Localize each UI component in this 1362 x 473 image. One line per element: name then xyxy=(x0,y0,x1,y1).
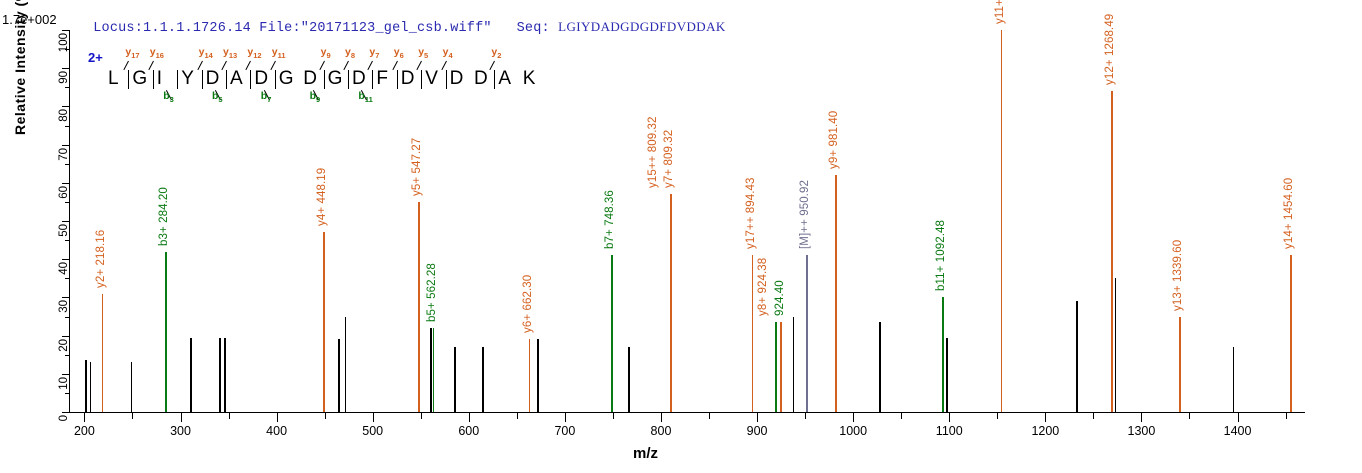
sequence-residue: V xyxy=(425,68,438,90)
y-tick-minor xyxy=(65,126,69,127)
sequence-residue: K xyxy=(523,68,536,90)
y-tick-minor xyxy=(65,393,69,394)
sequence-residue: D xyxy=(352,68,366,90)
x-tick-label: 1200 xyxy=(1031,424,1059,438)
x-tick xyxy=(1045,413,1046,422)
peak-label: y8+ 924.38 xyxy=(757,258,769,316)
y-ion-ladder-label: y14 xyxy=(199,46,213,60)
x-tick-minor xyxy=(1093,413,1094,419)
ladder-slash xyxy=(221,61,227,70)
x-tick xyxy=(661,413,662,422)
sequence-residue: G xyxy=(328,68,343,90)
y-tick-label: 100 xyxy=(58,33,70,91)
ladder-divider xyxy=(153,70,154,89)
x-tick-label: 1400 xyxy=(1224,424,1252,438)
peak-label: y7+ 809.32 xyxy=(663,130,675,188)
y-tick-minor xyxy=(65,164,69,165)
ladder-slash xyxy=(490,61,496,70)
y-axis-title: Relative Intensity (%) xyxy=(12,115,28,135)
y-ion-ladder-label: y4 xyxy=(443,46,453,60)
b-ion-ladder-label: b3 xyxy=(163,90,174,104)
x-tick-label: 600 xyxy=(458,424,479,438)
x-tick-minor xyxy=(805,413,806,419)
x-tick xyxy=(853,413,854,422)
x-tick-label: 800 xyxy=(651,424,672,438)
y-ion-ladder-label: y8 xyxy=(345,46,355,60)
x-tick-minor xyxy=(229,413,230,419)
x-axis-line xyxy=(69,412,1305,413)
ladder-divider xyxy=(250,70,251,89)
x-tick-label: 500 xyxy=(362,424,383,438)
ladder-slash xyxy=(197,61,203,70)
ladder-slash xyxy=(319,61,325,70)
ladder-slash xyxy=(417,61,423,70)
peak-label: y12+ 1268.49 xyxy=(1104,14,1116,85)
ladder-slash xyxy=(441,61,447,70)
y-max-annotation: 1.7e+002 xyxy=(2,12,57,27)
y-tick-minor xyxy=(65,278,69,279)
x-tick-minor xyxy=(325,413,326,419)
y-ion-ladder-label: y2 xyxy=(491,46,501,60)
ladder-slash xyxy=(148,61,154,70)
x-axis-title: m/z xyxy=(633,445,658,462)
b-ion-ladder-label: b11 xyxy=(358,90,372,104)
peptide-ladder: 2+ LGIYDADGDGDFDVDDAKy17y16y14y13y12y11y… xyxy=(88,46,558,112)
sequence-residue: I xyxy=(157,68,162,90)
x-tick-minor xyxy=(517,413,518,419)
b-ion-ladder-label: b5 xyxy=(212,90,223,104)
x-tick xyxy=(949,413,950,422)
y-ion-ladder-label: y11 xyxy=(272,46,286,60)
ladder-divider xyxy=(494,70,495,89)
x-tick-label: 1000 xyxy=(839,424,867,438)
sequence-residue: D xyxy=(401,68,415,90)
y-tick xyxy=(62,30,69,31)
x-tick xyxy=(1141,413,1142,422)
x-tick-label: 400 xyxy=(266,424,287,438)
peak-label: b7+ 748.36 xyxy=(604,191,616,250)
peak-label: y5+ 547.27 xyxy=(411,138,423,196)
y-ion-ladder-label: y6 xyxy=(394,46,404,60)
y-ion-ladder-label: y12 xyxy=(247,46,261,60)
peak-label: b3+ 284.20 xyxy=(158,187,170,246)
spectrum-viewer: Locus:1.1.1.1726.14 File:"20171123_gel_c… xyxy=(0,0,1362,473)
peak-label: [M]++ 950.92 xyxy=(799,180,811,249)
x-tick-minor xyxy=(421,413,422,419)
ladder-slash xyxy=(392,61,398,70)
y-tick-minor xyxy=(65,49,69,50)
ladder-divider xyxy=(348,70,349,89)
ladder-divider xyxy=(226,70,227,89)
sequence-residue: L xyxy=(108,68,119,90)
sequence-residue: G xyxy=(279,68,294,90)
ladder-slash xyxy=(270,61,276,70)
x-tick-minor xyxy=(132,413,133,419)
ladder-divider xyxy=(128,70,129,89)
peak-label: y13+ 1339.60 xyxy=(1172,239,1184,310)
x-tick xyxy=(757,413,758,422)
x-tick xyxy=(181,413,182,422)
ladder-divider xyxy=(372,70,373,89)
peak-label: 924.40 xyxy=(774,280,786,316)
b-ion-ladder-label: b7 xyxy=(261,90,272,104)
x-tick xyxy=(84,413,85,422)
peak-label: y4+ 448.19 xyxy=(316,168,328,226)
peak-label: b5+ 562.28 xyxy=(426,263,438,322)
sequence-residue: F xyxy=(376,68,388,90)
y-ion-ladder-label: y9 xyxy=(321,46,331,60)
x-tick-minor xyxy=(1286,413,1287,419)
ladder-divider xyxy=(421,70,422,89)
ladder-slash xyxy=(343,61,349,70)
sequence-residue: A xyxy=(498,68,511,90)
sequence-residue: D xyxy=(474,68,488,90)
peak-label: y17++ 894.43 xyxy=(745,178,757,250)
x-tick-label: 200 xyxy=(74,424,95,438)
x-tick xyxy=(373,413,374,422)
y-tick-minor xyxy=(65,87,69,88)
ladder-divider xyxy=(177,70,178,89)
ladder-divider xyxy=(324,70,325,89)
y-ion-ladder-label: y16 xyxy=(150,46,164,60)
sequence-residue: D xyxy=(254,68,268,90)
x-tick-minor xyxy=(997,413,998,419)
sequence-residue: D xyxy=(303,68,317,90)
y-tick-minor xyxy=(65,317,69,318)
ladder-slash xyxy=(124,61,130,70)
peak-label: y14+ 1454.60 xyxy=(1283,178,1295,249)
sequence-residue: D xyxy=(450,68,464,90)
ladder-divider xyxy=(275,70,276,89)
sequence-residue: Y xyxy=(181,68,194,90)
x-tick-label: 1100 xyxy=(936,424,963,438)
ladder-slash xyxy=(368,61,374,70)
y-tick-minor xyxy=(65,355,69,356)
x-tick-minor xyxy=(613,413,614,419)
x-tick-label: 700 xyxy=(554,424,575,438)
b-ion-ladder-label: b9 xyxy=(310,90,321,104)
x-tick-minor xyxy=(709,413,710,419)
x-tick-label: 1300 xyxy=(1128,424,1156,438)
x-tick-label: 900 xyxy=(747,424,768,438)
peak-label: y6+ 662.30 xyxy=(522,275,534,333)
sequence-residue: G xyxy=(132,68,147,90)
x-tick-minor xyxy=(901,413,902,419)
precursor-charge-label: 2+ xyxy=(88,50,103,65)
peak-label: y15++ 809.32 xyxy=(647,117,659,189)
peak-label: y9+ 981.40 xyxy=(828,111,840,169)
ladder-divider xyxy=(446,70,447,89)
x-tick xyxy=(565,413,566,422)
y-ion-ladder-label: y17 xyxy=(125,46,139,60)
x-tick-minor xyxy=(1189,413,1190,419)
x-tick xyxy=(1238,413,1239,422)
peak-label: y2+ 218.16 xyxy=(95,229,107,287)
y-tick-minor xyxy=(65,202,69,203)
x-tick xyxy=(469,413,470,422)
sequence-residue: A xyxy=(230,68,243,90)
x-tick-label: 300 xyxy=(170,424,191,438)
ladder-slash xyxy=(246,61,252,70)
x-tick xyxy=(277,413,278,422)
peak-label: y11+ 1153.45 xyxy=(994,0,1006,24)
peak-label: b11+ 1092.48 xyxy=(935,220,947,291)
y-tick-minor xyxy=(65,240,69,241)
y-ion-ladder-label: y5 xyxy=(418,46,428,60)
ladder-divider xyxy=(202,70,203,89)
y-ion-ladder-label: y7 xyxy=(369,46,379,60)
sequence-residue: D xyxy=(206,68,220,90)
y-ion-ladder-label: y13 xyxy=(223,46,237,60)
ladder-divider xyxy=(397,70,398,89)
